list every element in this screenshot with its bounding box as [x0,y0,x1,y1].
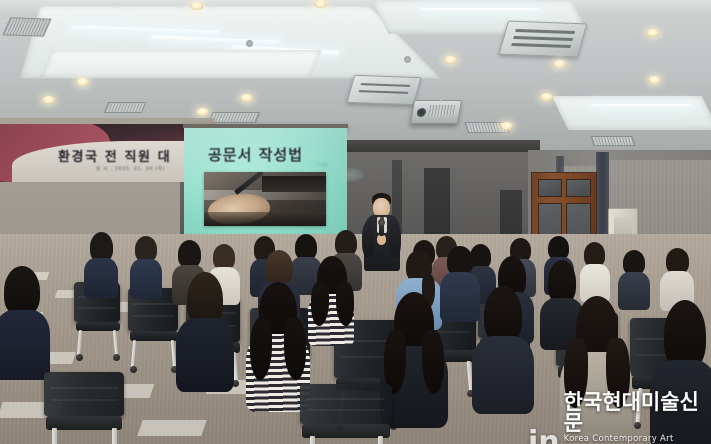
ceiling-cassette-air-conditioner [346,75,421,105]
recessed-downlight [646,29,659,37]
audience-member [660,248,694,308]
presenter-arm [362,223,374,257]
wall-logo-glow [336,168,364,182]
recessed-downlight [314,0,327,8]
audience-member [650,300,711,444]
audience-member [560,296,632,436]
slide-photo [204,172,326,226]
recessed-downlight [540,93,553,101]
slide-corner-logo: logo [316,162,329,168]
stacking-chair [44,372,124,444]
ceiling-cassette-air-conditioner [499,21,588,58]
stacking-chair [128,288,178,372]
banner-subtitle: 일 시 : 2025. 01. 30.(목) [96,166,165,172]
door-glass-panel [538,179,562,197]
recessed-downlight [76,78,89,86]
audience-member [130,236,162,296]
fluorescent-tube [591,104,693,108]
recessed-downlight [42,96,55,104]
stacking-chair [300,384,392,444]
audience-member [580,242,610,300]
recessed-downlight [553,60,566,68]
ceiling-light-well-far-right [552,96,711,130]
audience-member [176,272,234,388]
audience-member [0,266,50,376]
photograph-lecture-hall: 환경국 전 직원 대 일 시 : 2025. 01. 30.(목) 공문서 작성… [0,0,711,444]
floor-tile [137,420,206,436]
ceiling-vent-grille [2,17,51,36]
sprinkler-head [246,40,253,47]
recessed-downlight [190,2,203,10]
audience-member [472,286,534,410]
microphone-head [378,219,385,226]
ceiling-vent-grille [590,136,635,146]
audience-member [84,232,118,296]
recessed-downlight [500,122,513,130]
slide-title: 공문서 작성법 [208,144,303,165]
ceiling-light-well-inner [40,50,322,78]
audience-member [308,256,354,344]
recessed-downlight [648,76,661,84]
banner-title: 환경국 전 직원 대 [58,146,171,165]
door-glass-panel [566,179,591,197]
recessed-downlight [240,94,253,102]
sprinkler-head [404,56,411,63]
ceiling-vent-grille [208,112,260,123]
ceiling-projector [410,100,462,124]
projector-mount [440,86,442,102]
recessed-downlight [444,56,457,64]
recessed-downlight [196,108,209,116]
wall-banner: 환경국 전 직원 대 일 시 : 2025. 01. 30.(목) [0,124,200,182]
ceiling-vent-grille [104,102,146,113]
fluorescent-tube [419,8,541,12]
